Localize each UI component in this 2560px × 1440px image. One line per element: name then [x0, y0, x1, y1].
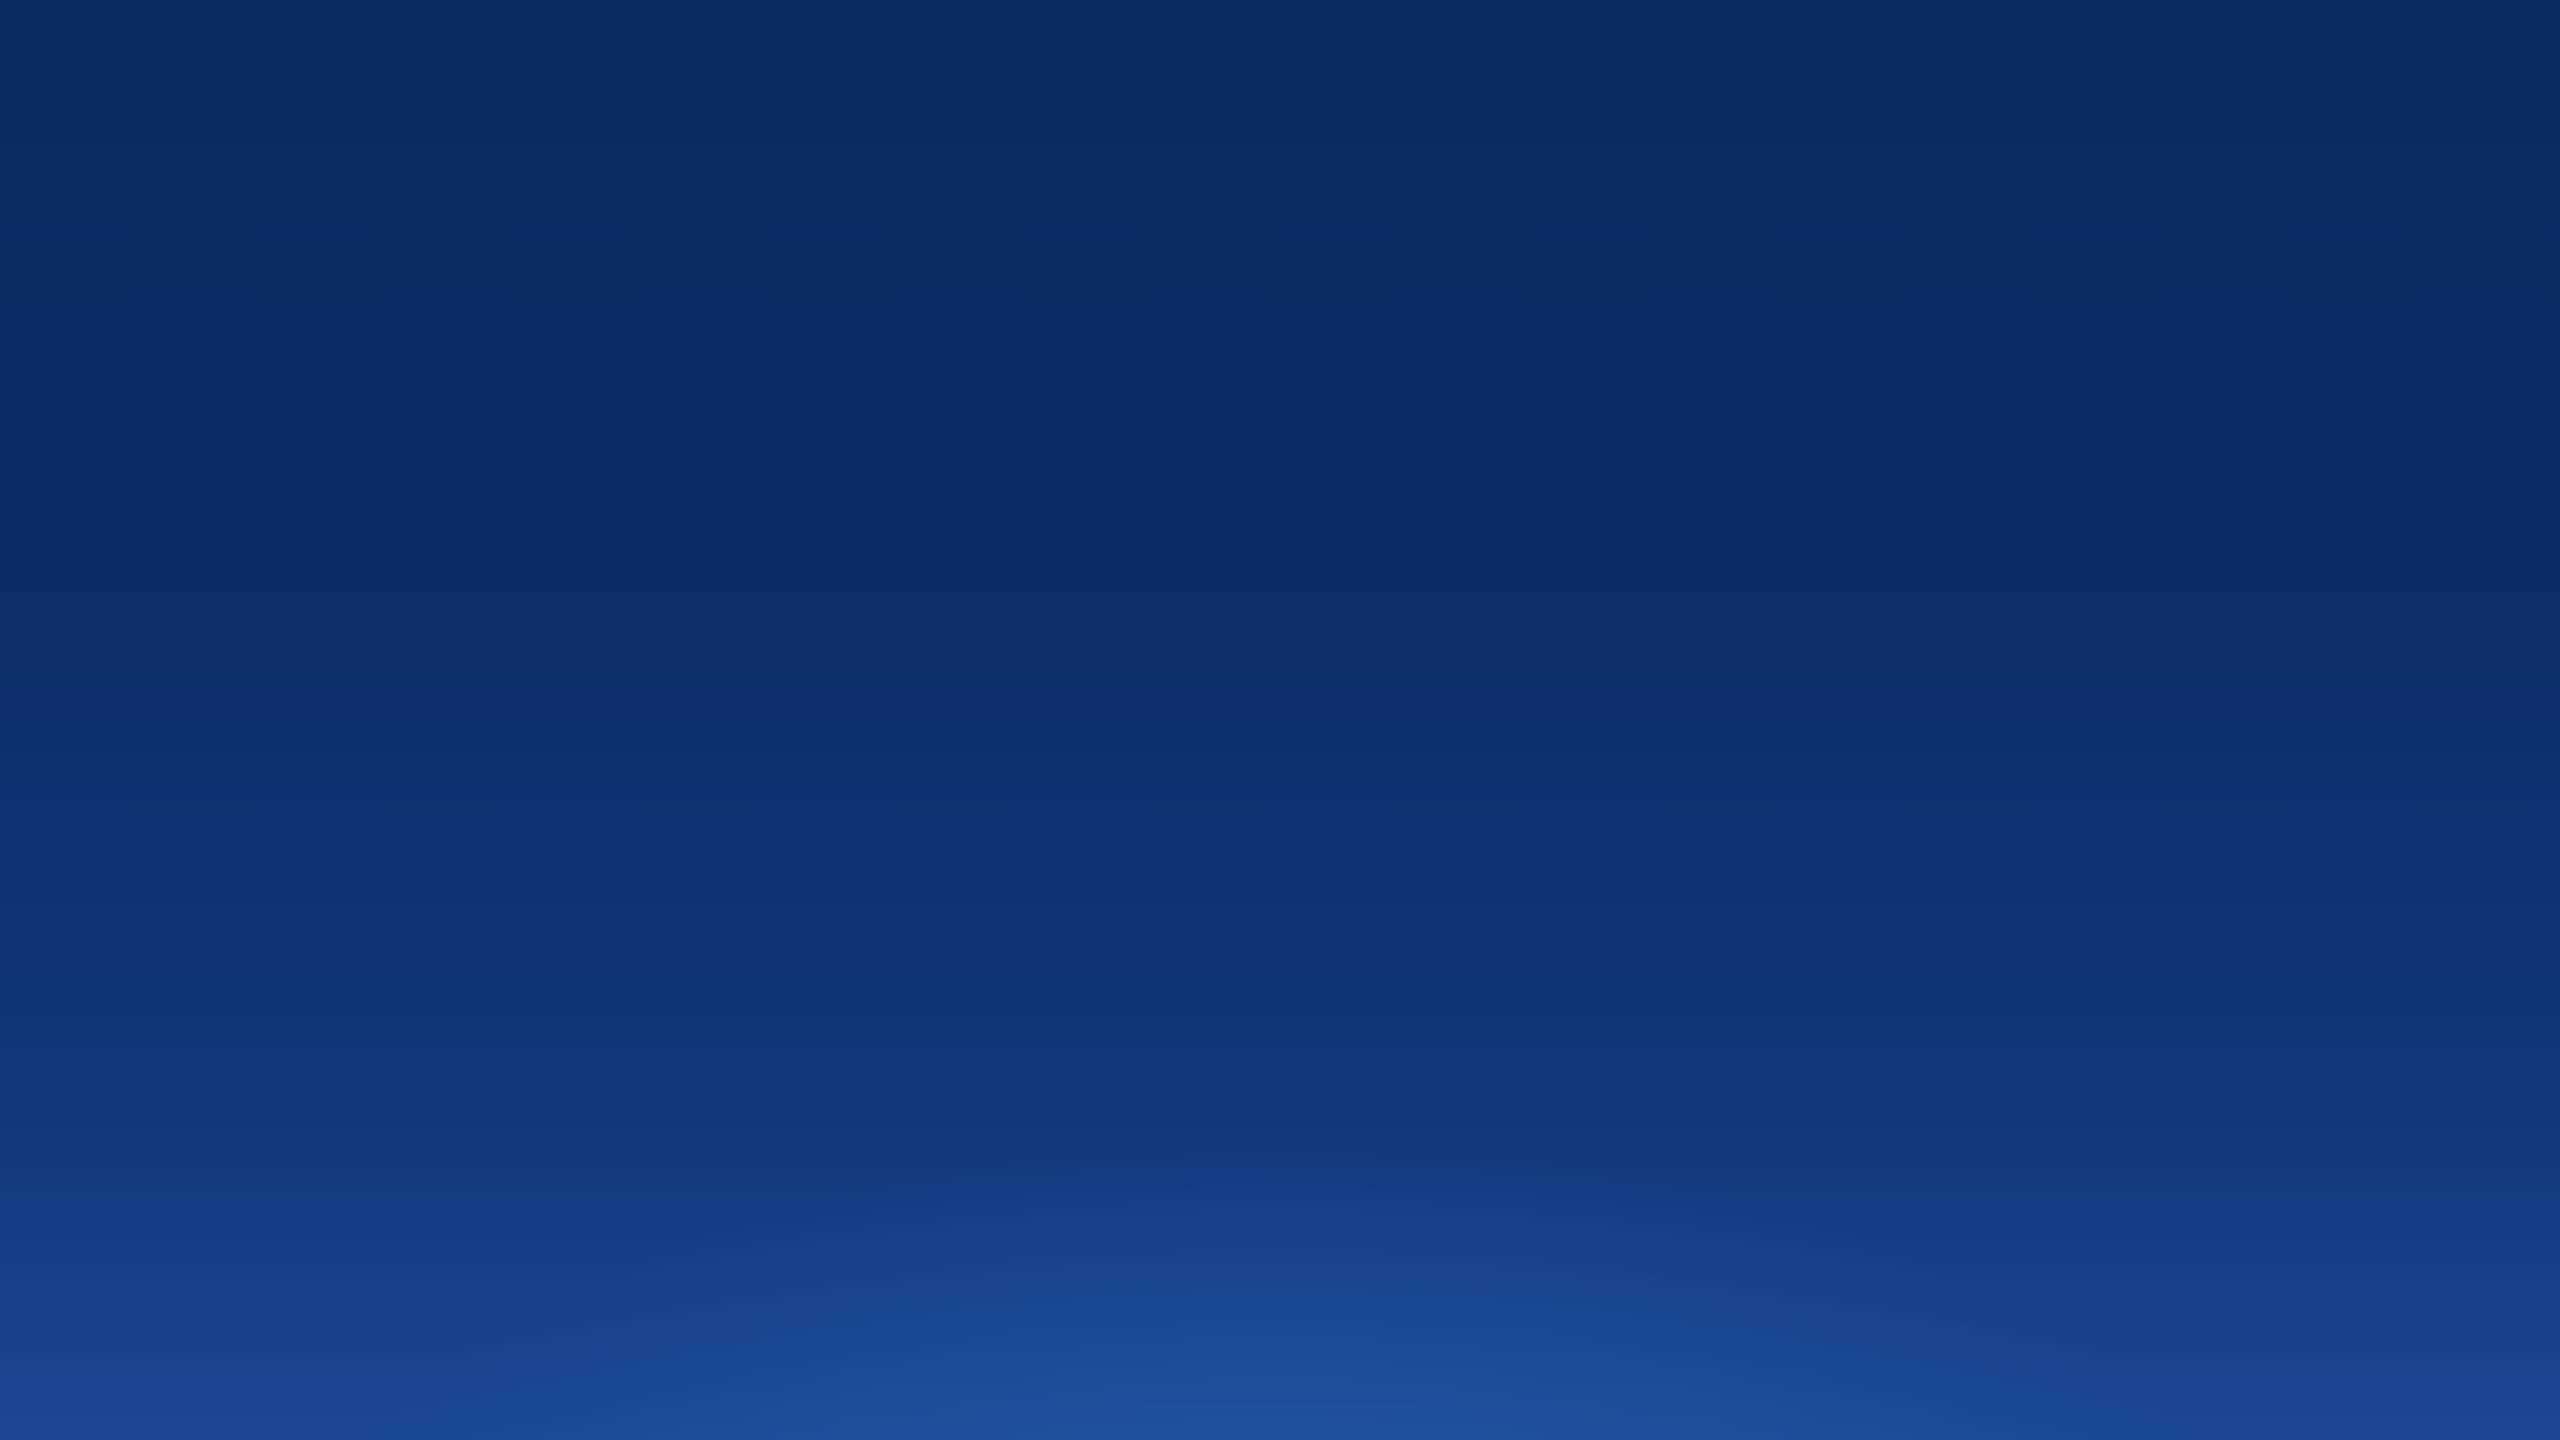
wave-curves-layer	[0, 560, 2560, 940]
timeline-infographic	[0, 0, 2560, 1440]
